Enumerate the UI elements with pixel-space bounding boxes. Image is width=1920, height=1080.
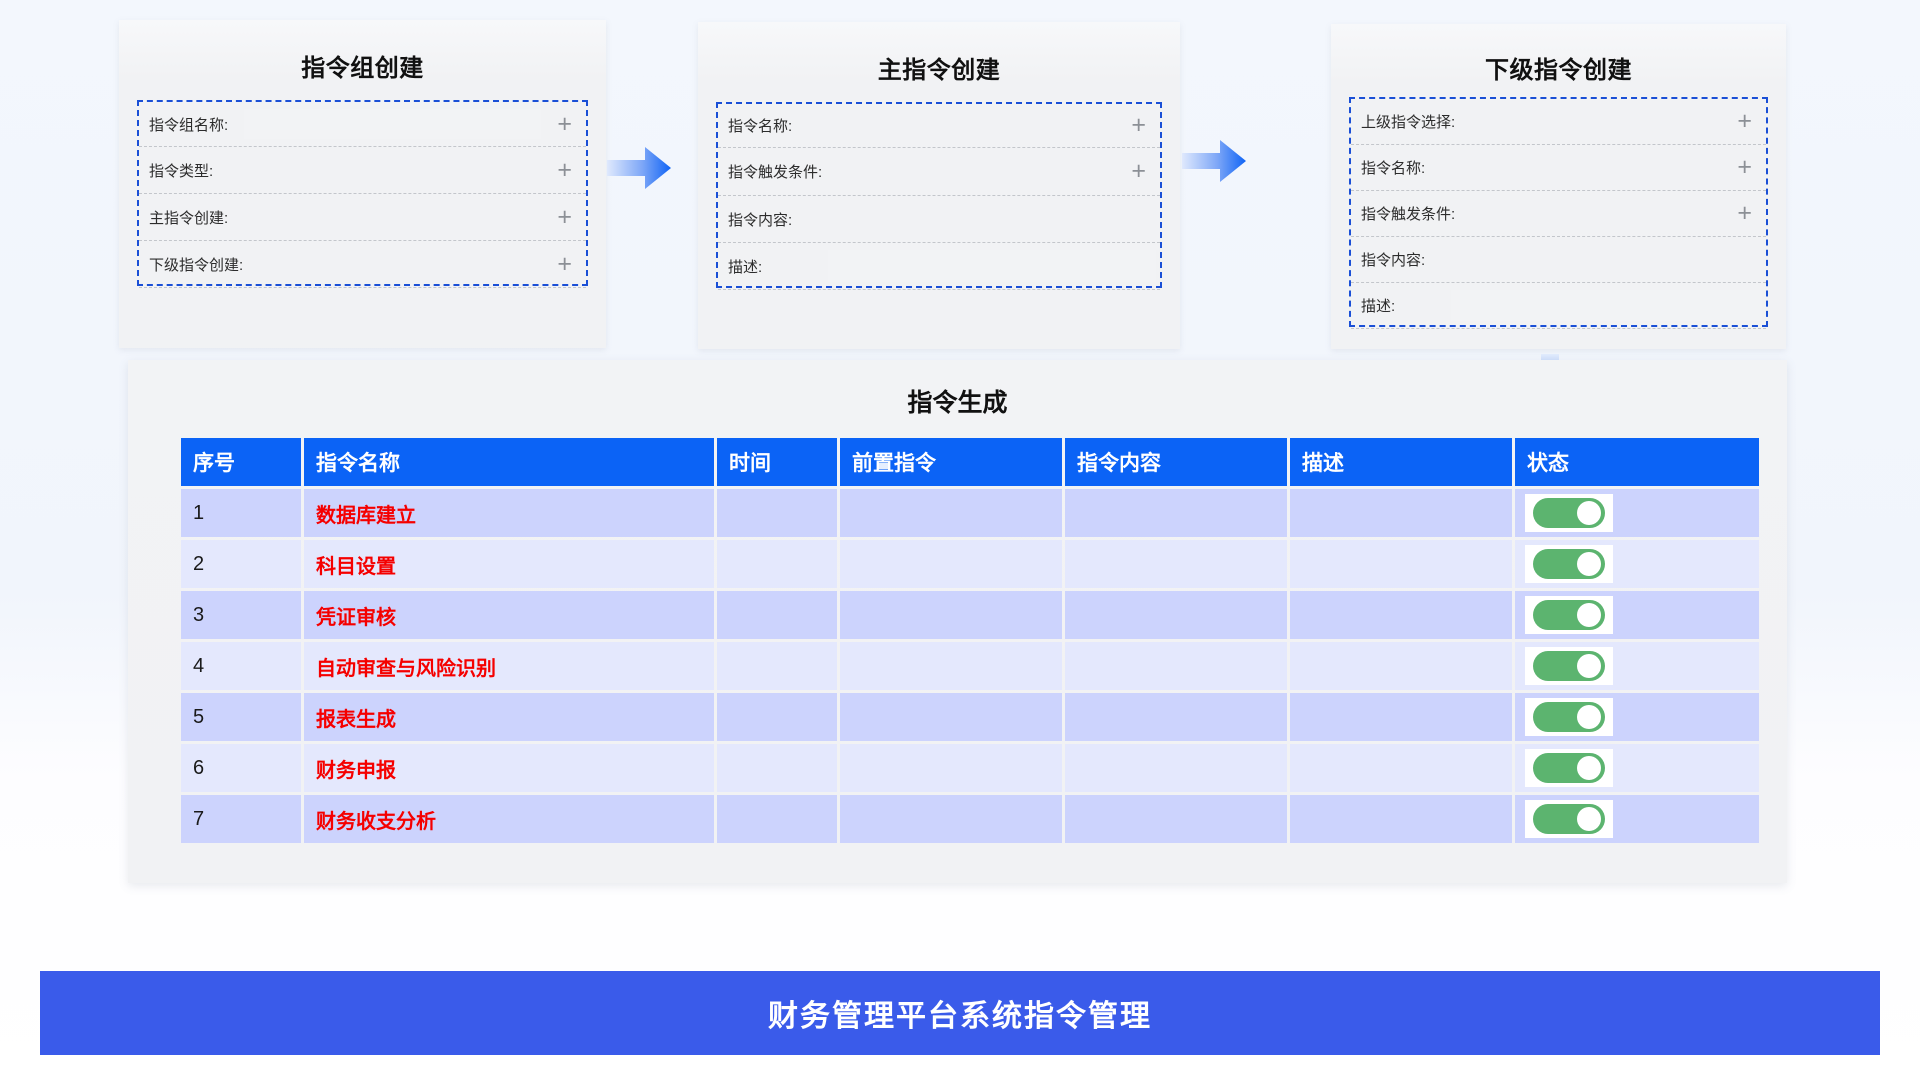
flow-card-form: 指令组名称: + 指令类型: + 主指令创建: + 下级指令创建: + (137, 100, 588, 286)
col-header-content[interactable]: 指令内容 (1065, 438, 1287, 486)
cell-prerequisite (840, 642, 1062, 690)
cell-prerequisite (840, 591, 1062, 639)
toggle-track[interactable] (1533, 651, 1605, 681)
form-row-label: 指令名称: (728, 115, 792, 136)
toggle-track[interactable] (1533, 702, 1605, 732)
col-header-desc[interactable]: 描述 (1290, 438, 1512, 486)
cell-description (1290, 489, 1512, 537)
table-row: 2科目设置 (181, 540, 1759, 588)
banner-title: 财务管理平台系统指令管理 (768, 991, 1152, 1035)
arrow-right-icon (1180, 136, 1250, 191)
page-root: 指令组创建 指令组名称: + 指令类型: + 主指令创建: + 下级指令创建: … (0, 0, 1920, 1080)
form-row-label: 主指令创建: (149, 207, 228, 228)
cell-index: 7 (181, 795, 301, 843)
toggle-knob (1577, 705, 1601, 729)
form-row-description[interactable]: 描述: (718, 243, 1160, 290)
form-row-label: 指令类型: (149, 160, 213, 181)
cell-content (1065, 693, 1287, 741)
form-row-label: 描述: (1361, 295, 1395, 316)
flow-card-title: 指令组创建 (119, 20, 606, 83)
cell-time (717, 693, 837, 741)
cell-time (717, 591, 837, 639)
cell-index: 3 (181, 591, 301, 639)
cell-content (1065, 540, 1287, 588)
cell-content (1065, 642, 1287, 690)
status-toggle[interactable] (1525, 698, 1613, 736)
cell-prerequisite (840, 744, 1062, 792)
instruction-generation-panel: 指令生成 序号 指令名称 时间 前置指令 指令内容 描述 状态 1数据库建立2科… (128, 360, 1787, 883)
add-icon[interactable]: + (1737, 109, 1752, 134)
col-header-name[interactable]: 指令名称 (304, 438, 714, 486)
form-row-instruction-name[interactable]: 指令名称: + (718, 104, 1160, 148)
cell-index: 1 (181, 489, 301, 537)
status-toggle[interactable] (1525, 647, 1613, 685)
table-body: 1数据库建立2科目设置3凭证审核4自动审查与风险识别5报表生成6财务申报7财务收… (181, 489, 1759, 843)
toggle-track[interactable] (1533, 498, 1605, 528)
arrow-right-icon (605, 143, 675, 198)
arrow-right-glyph (1180, 136, 1250, 186)
cell-content (1065, 591, 1287, 639)
cell-content (1065, 744, 1287, 792)
bottom-banner: 财务管理平台系统指令管理 (40, 971, 1880, 1055)
form-row-trigger-condition[interactable]: 指令触发条件: + (718, 148, 1160, 196)
flow-card-form: 上级指令选择: + 指令名称: + 指令触发条件: + 指令内容: 描述: (1349, 97, 1768, 327)
panel-title: 指令生成 (128, 383, 1787, 419)
cell-command-name: 科目设置 (304, 540, 714, 588)
group-name-input[interactable] (244, 109, 541, 139)
table-head: 序号 指令名称 时间 前置指令 指令内容 描述 状态 (181, 438, 1759, 486)
arrow-right-glyph (605, 143, 675, 193)
add-icon[interactable]: + (557, 112, 572, 137)
add-icon[interactable]: + (1131, 159, 1146, 184)
cell-command-name: 数据库建立 (304, 489, 714, 537)
flow-card-main-instruction-create: 主指令创建 指令名称: + 指令触发条件: + 指令内容: 描述: (698, 22, 1180, 349)
form-row-main-instruction-create[interactable]: 主指令创建: + (139, 194, 586, 241)
toggle-knob (1577, 552, 1601, 576)
flow-card-form: 指令名称: + 指令触发条件: + 指令内容: 描述: (716, 102, 1162, 288)
form-row-label: 描述: (728, 256, 762, 277)
form-row-label: 指令内容: (1361, 249, 1425, 270)
form-row-instruction-content[interactable]: 指令内容: (1351, 237, 1766, 283)
form-row-sub-instruction-create[interactable]: 下级指令创建: + (139, 241, 586, 288)
add-icon[interactable]: + (557, 252, 572, 277)
form-row-label: 指令触发条件: (728, 161, 822, 182)
form-row-parent-instruction-select[interactable]: 上级指令选择: + (1351, 99, 1766, 145)
add-icon[interactable]: + (1737, 155, 1752, 180)
table-row: 5报表生成 (181, 693, 1759, 741)
flow-card-title: 下级指令创建 (1331, 24, 1786, 85)
form-row-trigger-condition[interactable]: 指令触发条件: + (1351, 191, 1766, 237)
cell-description (1290, 795, 1512, 843)
status-toggle[interactable] (1525, 494, 1613, 532)
cell-content (1065, 489, 1287, 537)
cell-status (1515, 744, 1759, 792)
form-row-instruction-name[interactable]: 指令名称: + (1351, 145, 1766, 191)
cell-command-name: 自动审查与风险识别 (304, 642, 714, 690)
add-icon[interactable]: + (1737, 201, 1752, 226)
form-row-instruction-type[interactable]: 指令类型: + (139, 147, 586, 194)
status-toggle[interactable] (1525, 596, 1613, 634)
cell-status (1515, 540, 1759, 588)
cell-command-name: 报表生成 (304, 693, 714, 741)
cell-command-name: 凭证审核 (304, 591, 714, 639)
cell-time (717, 795, 837, 843)
cell-description (1290, 642, 1512, 690)
cell-description (1290, 591, 1512, 639)
cell-time (717, 540, 837, 588)
cell-description (1290, 693, 1512, 741)
table-row: 4自动审查与风险识别 (181, 642, 1759, 690)
form-row-description[interactable]: 描述: (1351, 283, 1766, 329)
toggle-track[interactable] (1533, 549, 1605, 579)
form-row-label: 上级指令选择: (1361, 111, 1455, 132)
status-toggle[interactable] (1525, 545, 1613, 583)
cell-status (1515, 489, 1759, 537)
form-row-label: 指令组名称: (149, 114, 228, 135)
cell-status (1515, 642, 1759, 690)
description-input[interactable] (828, 250, 1156, 282)
cell-index: 5 (181, 693, 301, 741)
cell-index: 4 (181, 642, 301, 690)
form-row-group-name[interactable]: 指令组名称: + (139, 102, 586, 147)
add-icon[interactable]: + (557, 205, 572, 230)
form-row-label: 指令内容: (728, 209, 792, 230)
toggle-track[interactable] (1533, 600, 1605, 630)
table-row: 3凭证审核 (181, 591, 1759, 639)
cell-time (717, 744, 837, 792)
toggle-knob (1577, 756, 1601, 780)
cell-prerequisite (840, 693, 1062, 741)
cell-index: 2 (181, 540, 301, 588)
toggle-track[interactable] (1533, 804, 1605, 834)
cell-prerequisite (840, 540, 1062, 588)
col-header-time[interactable]: 时间 (717, 438, 837, 486)
col-header-status[interactable]: 状态 (1515, 438, 1759, 486)
col-header-index[interactable]: 序号 (181, 438, 301, 486)
form-row-label: 指令名称: (1361, 157, 1425, 178)
instruction-table: 序号 指令名称 时间 前置指令 指令内容 描述 状态 1数据库建立2科目设置3凭… (178, 435, 1762, 846)
cell-command-name: 财务申报 (304, 744, 714, 792)
toggle-track[interactable] (1533, 753, 1605, 783)
form-row-instruction-content[interactable]: 指令内容: (718, 196, 1160, 243)
table-row: 6财务申报 (181, 744, 1759, 792)
toggle-knob (1577, 807, 1601, 831)
cell-time (717, 642, 837, 690)
add-icon[interactable]: + (1131, 113, 1146, 138)
flow-card-title: 主指令创建 (698, 22, 1180, 85)
cell-prerequisite (840, 489, 1062, 537)
description-input[interactable] (1451, 290, 1762, 321)
toggle-knob (1577, 501, 1601, 525)
form-row-label: 下级指令创建: (149, 254, 243, 275)
cell-content (1065, 795, 1287, 843)
status-toggle[interactable] (1525, 749, 1613, 787)
table-row: 1数据库建立 (181, 489, 1759, 537)
cell-status (1515, 795, 1759, 843)
cell-status (1515, 591, 1759, 639)
add-icon[interactable]: + (557, 158, 572, 183)
table-header-row: 序号 指令名称 时间 前置指令 指令内容 描述 状态 (181, 438, 1759, 486)
cell-description (1290, 540, 1512, 588)
form-row-label: 指令触发条件: (1361, 203, 1455, 224)
cell-status (1515, 693, 1759, 741)
cell-command-name: 财务收支分析 (304, 795, 714, 843)
toggle-knob (1577, 603, 1601, 627)
cell-prerequisite (840, 795, 1062, 843)
flow-card-sub-instruction-create: 下级指令创建 上级指令选择: + 指令名称: + 指令触发条件: + 指令内容:… (1331, 24, 1786, 349)
cell-time (717, 489, 837, 537)
cell-index: 6 (181, 744, 301, 792)
table-row: 7财务收支分析 (181, 795, 1759, 843)
flow-card-instruction-group-create: 指令组创建 指令组名称: + 指令类型: + 主指令创建: + 下级指令创建: … (119, 20, 606, 348)
toggle-knob (1577, 654, 1601, 678)
cell-description (1290, 744, 1512, 792)
col-header-prereq[interactable]: 前置指令 (840, 438, 1062, 486)
status-toggle[interactable] (1525, 800, 1613, 838)
